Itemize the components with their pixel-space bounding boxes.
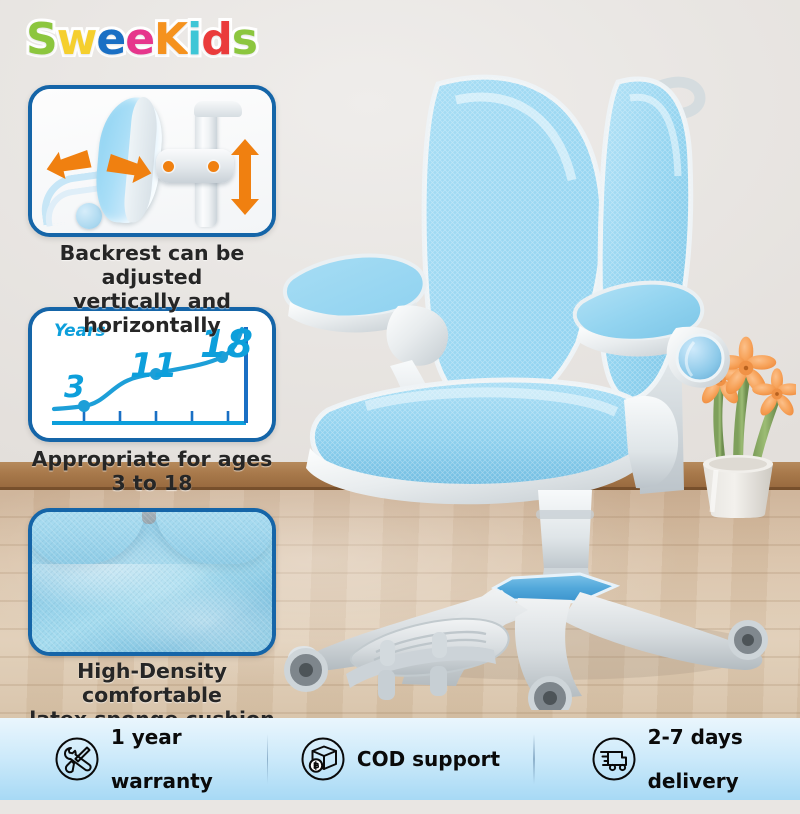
cushion-closeup-illustration	[32, 512, 272, 652]
caption-cushion-line1: High-Density comfortable	[14, 659, 290, 707]
chart-label-11: 11	[130, 349, 177, 383]
chart-ticks	[84, 411, 228, 421]
cushion-fabric-texture	[32, 512, 272, 652]
backrest-adjustment-illustration	[32, 89, 272, 233]
product-chair-image	[280, 70, 800, 710]
logo-letter-0: S	[26, 14, 57, 65]
caption-ages: Appropriate for ages 3 to 18	[14, 447, 290, 495]
caption-backrest-line1: Backrest can be adjusted	[14, 241, 290, 289]
logo-letter-1: w	[57, 14, 97, 65]
footer-item-cod: COD support	[267, 718, 534, 800]
footer-label-delivery: 2-7 days delivery	[648, 704, 743, 814]
caption-backrest-line2: vertically and horizontally	[14, 289, 290, 337]
delivery-line2: delivery	[648, 770, 743, 792]
ghost-knob	[76, 203, 102, 229]
feature-panel-backrest	[28, 85, 276, 237]
footer-label-cod: COD support	[357, 726, 500, 792]
up-down-arrow-icon	[228, 137, 262, 217]
logo-letter-6: d	[201, 14, 232, 65]
feature-panel-cushion	[28, 508, 276, 656]
footer-item-warranty: 1 year warranty	[0, 718, 267, 800]
warranty-line2: warranty	[111, 770, 213, 792]
caption-ages-line1: Appropriate for ages	[14, 447, 290, 471]
logo-letter-5: i	[187, 14, 201, 65]
delivery-truck-icon	[591, 736, 637, 782]
caption-backrest: Backrest can be adjusted vertically and …	[14, 241, 290, 337]
left-arrow-icon	[44, 147, 92, 181]
cod-line1: COD support	[357, 748, 500, 770]
footer-label-warranty: 1 year warranty	[111, 704, 213, 814]
right-arrow-icon	[106, 151, 154, 185]
logo-letter-2: e	[96, 14, 125, 65]
delivery-line1: 2-7 days	[648, 726, 743, 748]
pivot-dot-left	[163, 161, 174, 172]
logo-letter-3: e	[125, 14, 154, 65]
caption-ages-line2: 3 to 18	[14, 471, 290, 495]
box-coin-icon	[300, 736, 346, 782]
logo-letter-4: K	[154, 14, 187, 65]
footer-benefits-bar: 1 year warranty	[0, 718, 800, 800]
pivot-dot-right	[208, 161, 219, 172]
pole-top-hook	[194, 101, 242, 117]
chart-label-3: 3	[64, 373, 85, 403]
wrench-screwdriver-icon	[54, 736, 100, 782]
logo-letter-7: s	[232, 14, 257, 65]
brand-logo: SweeKids	[26, 14, 257, 65]
warranty-line1: 1 year	[111, 726, 213, 748]
footer-item-delivery: 2-7 days delivery	[533, 718, 800, 800]
